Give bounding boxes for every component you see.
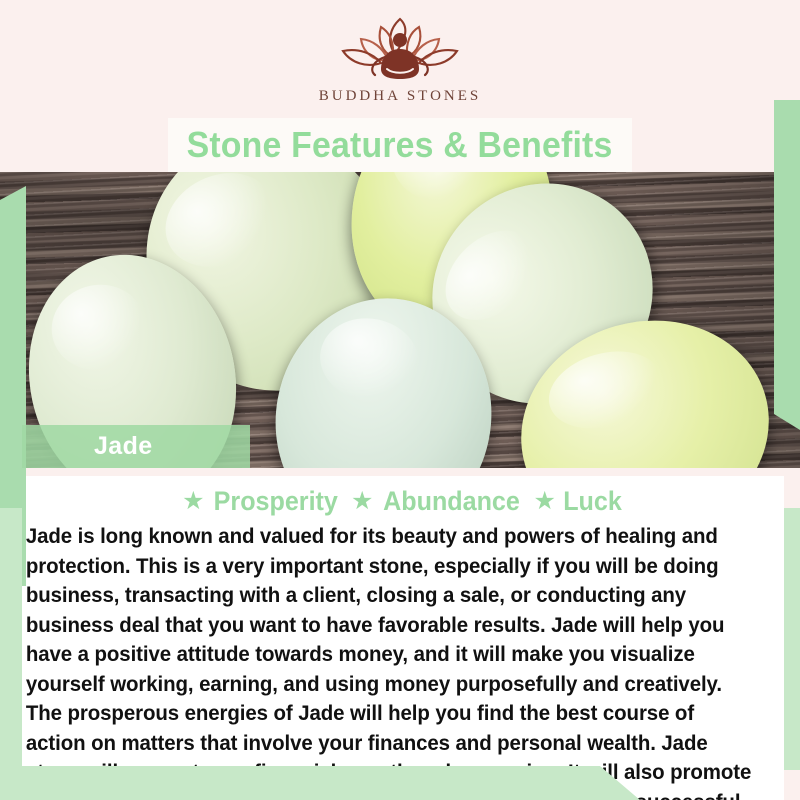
brand-name: BUDDHA STONES <box>319 88 482 105</box>
decor-right-green-bar <box>774 100 800 430</box>
benefit-item-luck: ★ Luck <box>533 486 623 517</box>
title-band: Stone Features & Benefits <box>168 118 632 172</box>
decor-bottom-green-bar <box>0 766 640 800</box>
stone-name-band: Jade <box>22 425 250 468</box>
benefit-label: Prosperity <box>214 486 338 517</box>
lotus-meditation-icon <box>325 13 475 85</box>
decor-body-right-green-bar <box>784 508 800 770</box>
content-section: ★ Prosperity ★ Abundance ★ Luck Jade is … <box>0 468 800 800</box>
decor-body-left-green-bar <box>0 508 22 770</box>
benefits-row: ★ Prosperity ★ Abundance ★ Luck <box>22 486 784 517</box>
content-panel: ★ Prosperity ★ Abundance ★ Luck Jade is … <box>22 476 784 800</box>
benefit-label: Luck <box>563 486 622 517</box>
stone-name-label: Jade <box>22 432 153 461</box>
page-title: Stone Features & Benefits <box>187 124 613 166</box>
star-icon: ★ <box>182 489 204 514</box>
star-icon: ★ <box>533 489 555 514</box>
benefit-item-prosperity: ★ Prosperity <box>182 486 343 517</box>
star-icon: ★ <box>351 489 373 514</box>
stone-description: Jade is long known and valued for its be… <box>22 522 757 800</box>
brand-logo: BUDDHA STONES <box>0 0 800 118</box>
stone-info-poster: BUDDHA STONES Stone Features & Benefits … <box>0 0 800 800</box>
benefit-item-abundance: ★ Abundance <box>351 486 525 517</box>
stone-photo <box>0 172 800 468</box>
benefit-label: Abundance <box>384 486 521 517</box>
